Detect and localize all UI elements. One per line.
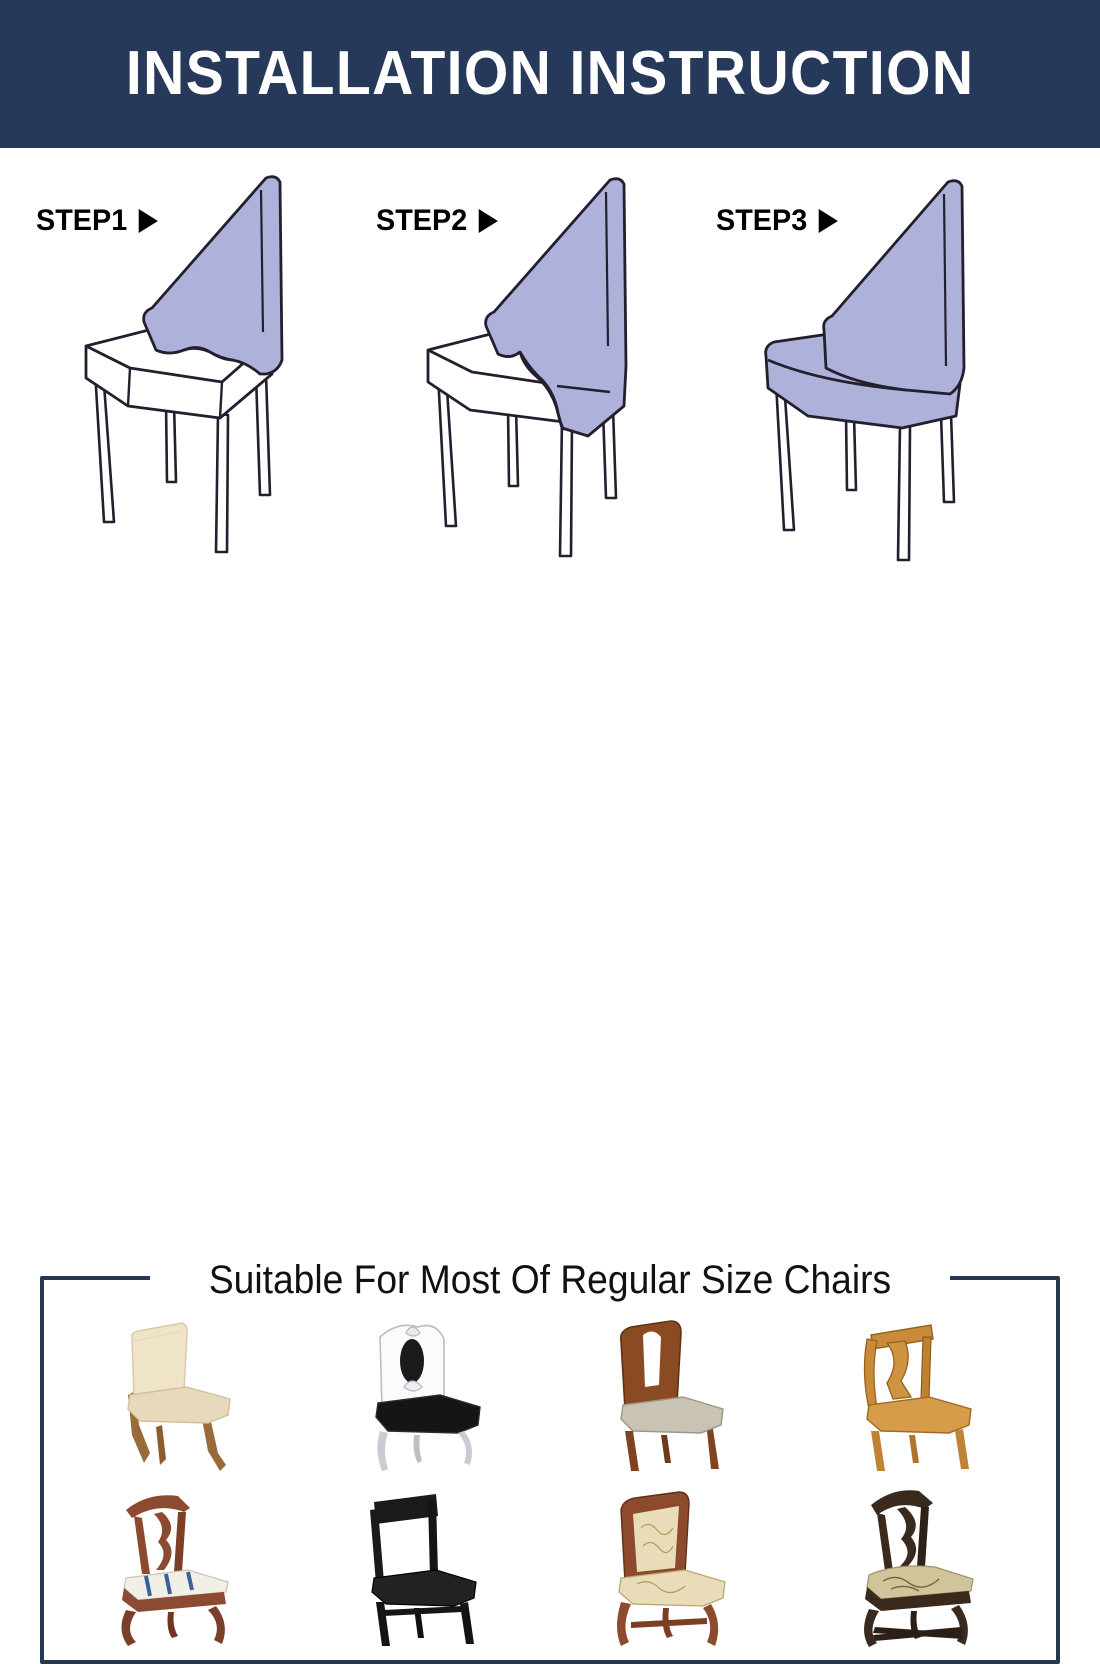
chair-thumb-5 [56, 1485, 304, 1660]
chair-gallery-grid [56, 1310, 1046, 1660]
golden-oak-splat-chair-icon [835, 1313, 1010, 1483]
chippendale-mahogany-chair-icon [92, 1488, 267, 1658]
chair-thumb-3 [551, 1310, 799, 1485]
step-1-chair-illustration [70, 170, 320, 570]
chair-thumb-8 [799, 1485, 1047, 1660]
steps-section: STEP1 STEP2 [0, 148, 1100, 618]
chair-thumb-2 [304, 1310, 552, 1485]
black-slat-back-chair-icon [340, 1488, 515, 1658]
chair-thumb-1 [56, 1310, 304, 1485]
cream-upholstered-parsons-chair-icon [90, 1313, 270, 1483]
step-2: STEP2 [358, 148, 698, 618]
suitable-section: Suitable For Most Of Regular Size Chairs [0, 618, 1100, 1065]
walnut-keyhole-back-chair-icon [587, 1313, 762, 1483]
chair-thumb-4 [799, 1310, 1047, 1485]
step-2-chair-illustration [410, 170, 660, 570]
chair-thumb-7 [551, 1485, 799, 1660]
step-1: STEP1 [18, 148, 358, 618]
dark-carved-antique-chair-icon [835, 1485, 1010, 1660]
header-banner: INSTALLATION INSTRUCTION [0, 0, 1100, 148]
page-title: INSTALLATION INSTRUCTION [126, 43, 975, 105]
suitable-heading: Suitable For Most Of Regular Size Chairs [39, 1258, 1062, 1303]
step-3: STEP3 [698, 148, 1038, 618]
mahogany-floral-upholstered-chair-icon [587, 1488, 762, 1658]
step-3-back-cover [824, 181, 964, 394]
chair-thumb-6 [304, 1485, 552, 1660]
step-3-chair-illustration [750, 170, 1000, 570]
silver-baroque-chair-icon [340, 1313, 515, 1483]
